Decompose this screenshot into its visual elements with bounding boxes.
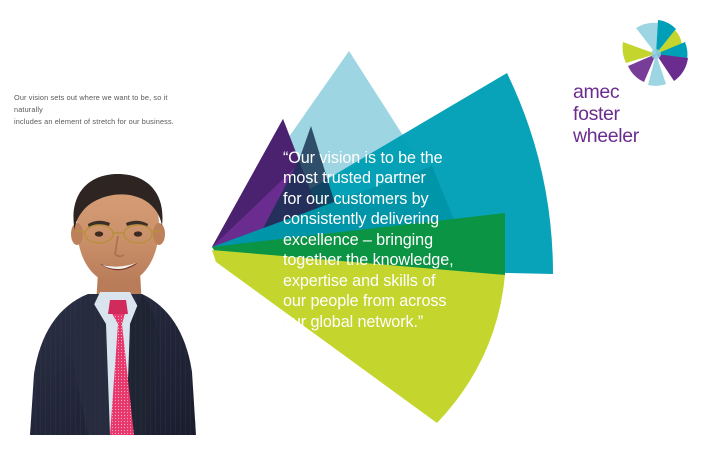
brand-logo[interactable]: amec foster wheeler [570, 8, 710, 148]
portrait-content [30, 174, 196, 435]
tie-knot [108, 300, 128, 314]
executive-portrait [30, 174, 196, 435]
page-root: Our vision sets out where we want to be,… [0, 0, 722, 451]
logo-wordmark: amec foster wheeler [573, 82, 713, 147]
vision-quote: “Our vision is to be the most trusted pa… [283, 148, 498, 332]
right-ear [153, 223, 165, 245]
logo-center-dot [651, 49, 661, 59]
intro-caption: Our vision sets out where we want to be,… [14, 92, 196, 127]
right-eye [134, 231, 142, 236]
left-eye [95, 231, 103, 236]
left-ear [71, 223, 83, 245]
